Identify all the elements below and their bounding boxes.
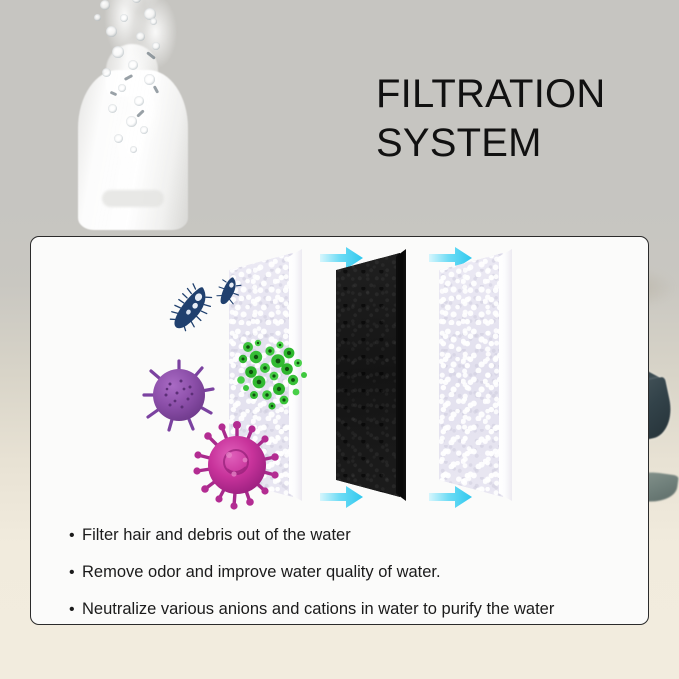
- bullet-marker: •: [69, 525, 82, 546]
- flow-arrow-bottom-left: [320, 485, 364, 509]
- list-item-text: Remove odor and improve water quality of…: [82, 562, 629, 583]
- list-item-text: Filter hair and debris out of the water: [82, 525, 629, 546]
- bullet-marker: •: [69, 562, 82, 583]
- water-splash-bottle-photo: [40, 0, 260, 232]
- bacteria-green-cluster: [234, 335, 320, 417]
- list-item: • Remove odor and improve water quality …: [69, 562, 629, 583]
- info-card: • Filter hair and debris out of the wate…: [30, 236, 649, 625]
- bacterium-navy-large: [169, 281, 219, 341]
- page-title: FILTRATION SYSTEM: [376, 70, 666, 168]
- bottle-body: [78, 70, 188, 230]
- bottle-label-patch: [102, 190, 164, 207]
- filtration-diagram: [31, 237, 649, 522]
- post-filter-fiber-layer: [439, 253, 503, 497]
- bacterium-navy-small: [217, 275, 243, 309]
- post-filter-edge: [499, 249, 512, 501]
- virus-magenta-corona: [189, 417, 285, 513]
- bullet-marker: •: [69, 599, 82, 620]
- water-splash-column: [92, 0, 188, 164]
- feature-list: • Filter hair and debris out of the wate…: [69, 525, 629, 620]
- list-item: • Filter hair and debris out of the wate…: [69, 525, 629, 546]
- list-item-text: Neutralize various anions and cations in…: [82, 599, 629, 620]
- activated-carbon-layer: [336, 253, 400, 497]
- bottle-neck: [106, 44, 158, 96]
- list-item: • Neutralize various anions and cations …: [69, 599, 629, 620]
- flow-arrow-bottom-right: [429, 485, 473, 509]
- filtration-system-poster: FILTRATION SYSTEM: [0, 0, 679, 679]
- carbon-edge: [396, 249, 406, 501]
